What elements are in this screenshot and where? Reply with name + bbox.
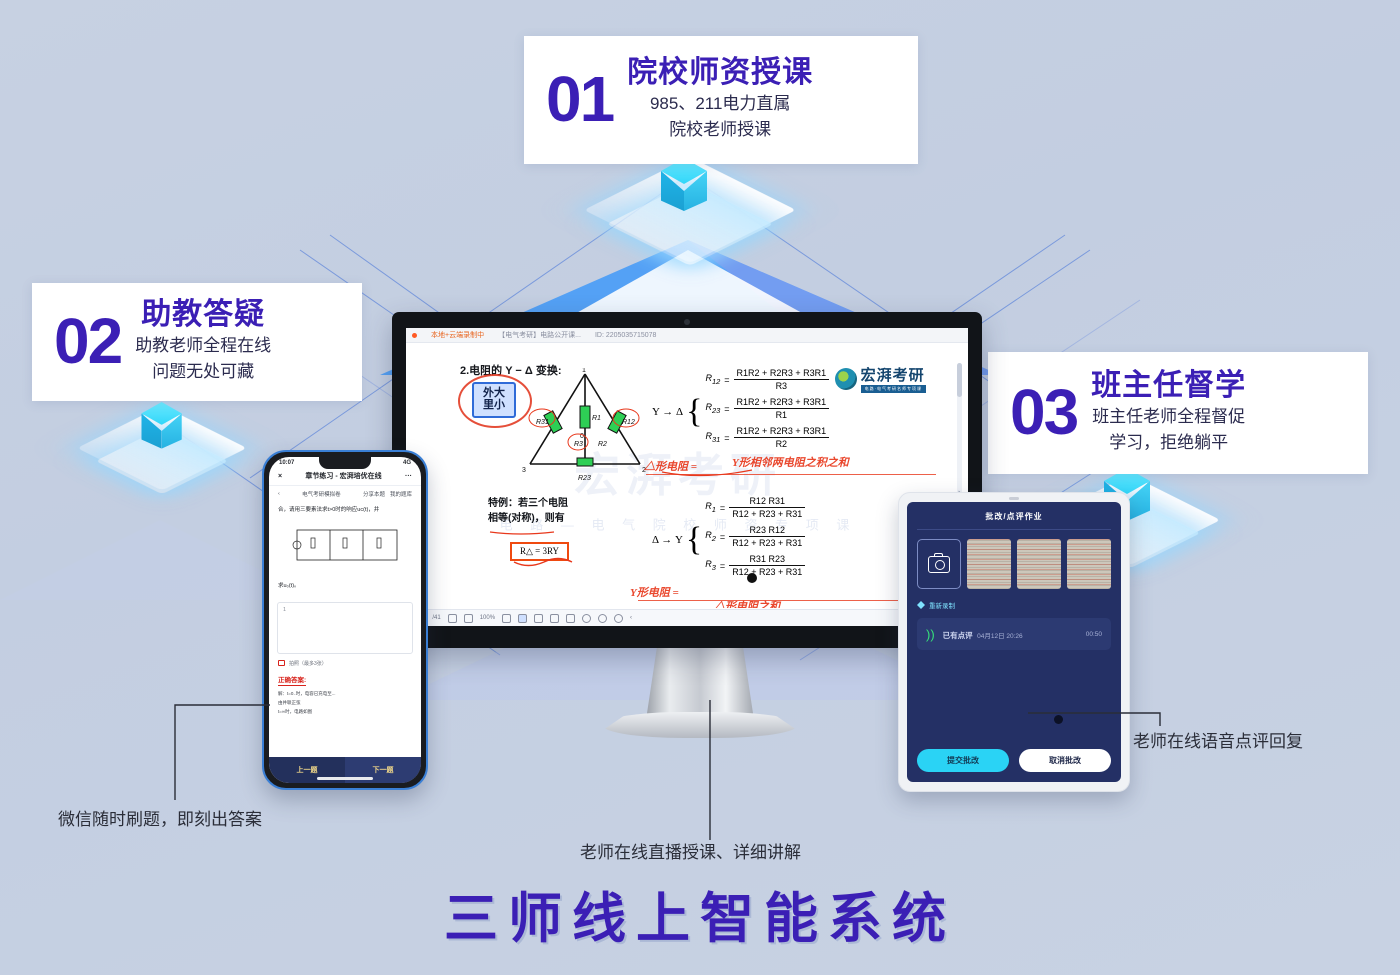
page-title: 三师线上智能系统: [0, 874, 1400, 953]
pedestal-02: [92, 393, 232, 503]
answer-placeholder: 1: [283, 607, 286, 613]
callout-monitor: 老师在线直播授课、详细讲解: [580, 838, 801, 863]
grid-icon[interactable]: [464, 614, 473, 623]
pen-icon[interactable]: [518, 614, 527, 623]
phone-screen: 10:07 4G × 章节练习 - 宏湃培优在线 ··· ‹ 电气考研模拟卷 分…: [269, 457, 421, 783]
question-line2: 求u₀(t)。: [278, 582, 412, 591]
highlighter-icon[interactable]: [534, 614, 543, 623]
re-record-label: 重新录制: [929, 600, 955, 610]
question-line: 合，请用三要素法求t>0时的响应uc(t)，并: [278, 506, 412, 515]
audio-date: 04月12日 20:26: [977, 633, 1023, 640]
eraser-icon[interactable]: [582, 614, 591, 623]
re-record-icon: [917, 601, 925, 609]
feature-card-03[interactable]: 03 班主任督学 班主任老师全程督促 学习，拒绝躺平: [988, 352, 1368, 474]
phone-nav-bar: × 章节练习 - 宏湃培优在线 ···: [269, 467, 421, 486]
webcam-icon: [684, 319, 690, 325]
submit-review-button[interactable]: 提交批改: [917, 749, 1009, 772]
phone-question-text2: 求u₀(t)。: [269, 577, 421, 596]
camera-upload-icon[interactable]: [278, 660, 285, 666]
re-record-button[interactable]: 重新录制: [917, 600, 1111, 610]
audio-title: 已有点评: [943, 631, 973, 640]
audio-comment-row[interactable]: )) 已有点评 04月12日 20:26 00:50: [917, 618, 1111, 650]
more-icon[interactable]: ···: [405, 473, 412, 480]
cube-icon-01: [648, 158, 720, 212]
brand-logo: 宏湃考研 电路·电气考研名师专项课: [835, 364, 926, 393]
tablet-mockup: 批改/点评作业 重新录制 )) 已有点评 04月12日 20:26 0: [898, 492, 1130, 792]
status-signal: 4G: [403, 460, 411, 466]
live-class-body: 宏湃考研 电 路 — 电 气 院 校 师 资 专 项 课 2.电阻的 Y − Δ…: [406, 343, 968, 626]
card-subtitle-line1: 985、211电力直属: [627, 93, 813, 116]
back-icon[interactable]: ‹: [278, 491, 280, 497]
phone-nav-title: 章节练习 - 宏湃培优在线: [305, 471, 381, 481]
cancel-review-button[interactable]: 取消批改: [1019, 749, 1111, 772]
phone-notch: [319, 457, 371, 469]
recording-status: 本地+云端录制中: [431, 330, 484, 340]
phone-circuit-diagram: [283, 524, 413, 568]
pedestal-01: [610, 150, 770, 270]
status-time: 10:07: [279, 460, 294, 466]
logo-subtext: 电路·电气考研名师专项课: [861, 385, 926, 393]
whiteboard-toolbar[interactable]: 9 /41 100% ‹: [414, 609, 942, 626]
audio-duration: 00:50: [1086, 631, 1102, 638]
home-indicator: [317, 777, 373, 780]
room-id: ID: 2205035715078: [595, 332, 657, 339]
collapse-toolbar-icon[interactable]: ‹: [630, 615, 632, 621]
share-icon[interactable]: 分享本题: [363, 490, 385, 498]
take-photo-button[interactable]: [917, 539, 961, 589]
callout-tablet: 老师在线语音点评回复: [1133, 727, 1303, 752]
card-subtitle-line2: 院校老师授课: [627, 119, 813, 142]
select-icon[interactable]: [502, 614, 511, 623]
exam-paper-title: 电气考研模拟卷: [302, 490, 341, 498]
settings-icon[interactable]: [614, 614, 623, 623]
callout-anchor-dot: [1054, 715, 1063, 724]
smartphone-mockup: 10:07 4G × 章节练习 - 宏湃培优在线 ··· ‹ 电气考研模拟卷 分…: [262, 450, 428, 790]
card-number: 02: [54, 309, 121, 373]
camera-icon: [928, 556, 950, 573]
answer-line: 解：t=0₋时，电容已充电至...: [278, 691, 412, 697]
shape-icon[interactable]: [550, 614, 559, 623]
card-title: 助教答疑: [135, 298, 271, 333]
live-class-topbar: 本地+云端录制中 【电气考研】电路公开课... ID: 220503571507…: [406, 328, 968, 343]
phone-question-text: 合，请用三要素法求t>0时的响应uc(t)，并: [269, 501, 421, 520]
recording-dot-icon: [412, 333, 417, 338]
card-title: 院校师资授课: [627, 56, 813, 91]
answer-line: 由并联正弦: [278, 700, 412, 706]
phone-sub-bar: ‹ 电气考研模拟卷 分享本题 我的题库: [269, 486, 421, 501]
fill-icon[interactable]: [598, 614, 607, 623]
tablet-title: 批改/点评作业: [917, 511, 1111, 530]
fit-screen-icon[interactable]: [448, 614, 457, 623]
scrollbar-thumb[interactable]: [957, 363, 962, 397]
whiteboard-canvas[interactable]: 宏湃考研 电 路 — 电 气 院 校 师 资 专 项 课 2.电阻的 Y − Δ…: [414, 346, 942, 608]
feature-card-02[interactable]: 02 助教答疑 助教老师全程在线 问题无处可藏: [32, 283, 362, 401]
answer-line: t=∞时，电路如图: [278, 709, 412, 715]
logo-swirl-icon: [835, 368, 857, 390]
homework-thumbnail[interactable]: [967, 539, 1011, 589]
close-icon[interactable]: ×: [278, 473, 282, 480]
tablet-camera-icon: [1009, 497, 1019, 500]
card-subtitle-line1: 助教老师全程在线: [135, 335, 271, 358]
tablet-screen: 批改/点评作业 重新录制 )) 已有点评 04月12日 20:26 0: [907, 502, 1121, 782]
desktop-monitor: 本地+云端录制中 【电气考研】电路公开课... ID: 220503571507…: [392, 312, 982, 648]
tablet-action-buttons: 提交批改 取消批改: [917, 749, 1111, 772]
card-subtitle-line2: 学习，拒绝躺平: [1091, 432, 1246, 455]
question-bank-icon[interactable]: 我的题库: [390, 490, 412, 498]
card-number: 03: [1010, 380, 1077, 444]
monitor-stand-neck: [646, 648, 754, 720]
callout-phone: 微信随时刷题，即刻出答案: [58, 805, 262, 830]
page-total: /41: [432, 615, 440, 621]
infographic-stage: 01 院校师资授课 985、211电力直属 院校老师授课 02 助教答疑 助教老…: [0, 0, 1400, 975]
correct-answer-label: 正确答案:: [278, 674, 306, 686]
photo-hint: 拍照（最多3张）: [289, 660, 327, 667]
cube-icon-02: [130, 402, 188, 446]
audio-wave-icon: )): [926, 628, 935, 641]
logo-text: 宏湃考研: [861, 364, 926, 385]
monitor-stand-base: [602, 712, 798, 738]
monitor-screen: 本地+云端录制中 【电气考研】电路公开课... ID: 220503571507…: [406, 328, 968, 626]
homework-thumbnail[interactable]: [1067, 539, 1111, 589]
course-title: 【电气考研】电路公开课...: [498, 330, 581, 340]
answer-input[interactable]: 1: [277, 602, 413, 654]
card-number: 01: [546, 67, 613, 131]
homework-thumbnail[interactable]: [1017, 539, 1061, 589]
card-subtitle-line2: 问题无处可藏: [135, 361, 271, 384]
card-subtitle-line1: 班主任老师全程督促: [1091, 406, 1246, 429]
zoom-level[interactable]: 100%: [480, 615, 495, 621]
homework-thumbnails: [917, 539, 1111, 589]
text-icon[interactable]: [566, 614, 575, 623]
card-title: 班主任督学: [1091, 369, 1246, 404]
feature-card-01[interactable]: 01 院校师资授课 985、211电力直属 院校老师授课: [524, 36, 918, 164]
